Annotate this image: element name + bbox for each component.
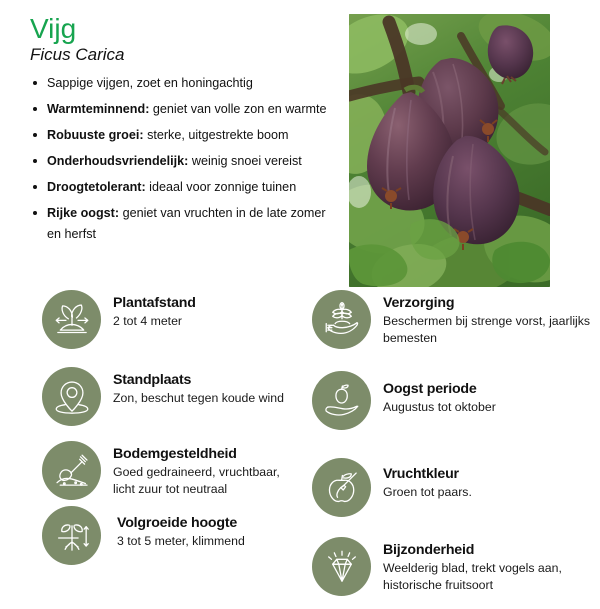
attribute-card-description: 2 tot 4 meter bbox=[113, 313, 196, 330]
plant-spacing-icon bbox=[42, 290, 101, 349]
feature-bullet-text: Sappige vijgen, zoet en honingachtig bbox=[47, 76, 253, 90]
feature-bullet-text: weinig snoei vereist bbox=[192, 154, 302, 168]
diamond-sparkle-icon bbox=[312, 537, 371, 596]
attribute-card-description: Goed gedraineerd, vruchtbaar, licht zuur… bbox=[113, 464, 300, 497]
attribute-card-description: Weelderig blad, trekt vogels aan, histor… bbox=[383, 560, 598, 593]
attribute-card-body: VerzorgingBeschermen bij strenge vorst, … bbox=[383, 290, 598, 346]
attribute-card: StandplaatsZon, beschut tegen koude wind bbox=[42, 367, 300, 426]
attribute-card-body: StandplaatsZon, beschut tegen koude wind bbox=[113, 367, 284, 407]
attribute-card-grid: Plantafstand2 tot 4 meterStandplaatsZon,… bbox=[0, 290, 600, 609]
attribute-card: BodemgesteldheidGoed gedraineerd, vrucht… bbox=[42, 441, 300, 500]
feature-bullet: Robuuste groei: sterke, uitgestrekte boo… bbox=[30, 125, 340, 146]
attribute-card-body: BijzonderheidWeelderig blad, trekt vogel… bbox=[383, 537, 598, 593]
attribute-card: Volgroeide hoogte3 tot 5 meter, klimmend bbox=[42, 506, 300, 565]
attribute-card-body: Plantafstand2 tot 4 meter bbox=[113, 290, 196, 330]
feature-bullet: Droogtetolerant: ideaal voor zonnige tui… bbox=[30, 177, 340, 198]
attribute-card-title: Plantafstand bbox=[113, 295, 196, 312]
feature-bullet-text: ideaal voor zonnige tuinen bbox=[149, 180, 296, 194]
attribute-card-title: Verzorging bbox=[383, 295, 598, 312]
latin-name: Ficus Carica bbox=[30, 45, 340, 65]
attribute-card: VerzorgingBeschermen bij strenge vorst, … bbox=[312, 290, 600, 349]
attribute-card-description: Zon, beschut tegen koude wind bbox=[113, 390, 284, 407]
attribute-card-body: Volgroeide hoogte3 tot 5 meter, klimmend bbox=[113, 506, 245, 550]
attribute-card-title: Bijzonderheid bbox=[383, 542, 598, 559]
plant-height-icon bbox=[42, 506, 101, 565]
feature-bullet-label: Rijke oogst: bbox=[47, 206, 119, 220]
feature-bullet-list: Sappige vijgen, zoet en honingachtigWarm… bbox=[30, 73, 340, 245]
feature-bullet-label: Onderhoudsvriendelijk: bbox=[47, 154, 188, 168]
attribute-card-description: Beschermen bij strenge vorst, jaarlijks … bbox=[383, 313, 598, 346]
shovel-soil-icon bbox=[42, 441, 101, 500]
attribute-card: Plantafstand2 tot 4 meter bbox=[42, 290, 300, 349]
feature-bullet: Onderhoudsvriendelijk: weinig snoei vere… bbox=[30, 151, 340, 172]
intro-text-block: Vijg Ficus Carica Sappige vijgen, zoet e… bbox=[0, 14, 340, 250]
feature-bullet: Sappige vijgen, zoet en honingachtig bbox=[30, 73, 340, 94]
feature-bullet-label: Warmteminnend: bbox=[47, 102, 149, 116]
attribute-card: VruchtkleurGroen tot paars. bbox=[312, 458, 600, 517]
attribute-column-left: Plantafstand2 tot 4 meterStandplaatsZon,… bbox=[0, 290, 300, 609]
page-title: Vijg bbox=[30, 14, 340, 44]
feature-bullet: Rijke oogst: geniet van vruchten in de l… bbox=[30, 203, 340, 245]
attribute-card: Oogst periodeAugustus tot oktober bbox=[312, 371, 600, 430]
apple-brush-color-icon bbox=[312, 458, 371, 517]
hand-plant-care-icon bbox=[312, 290, 371, 349]
attribute-card-title: Vruchtkleur bbox=[383, 466, 472, 483]
attribute-card-title: Bodemgesteldheid bbox=[113, 446, 300, 463]
feature-bullet-text: geniet van volle zon en warmte bbox=[153, 102, 327, 116]
hand-apple-harvest-icon bbox=[312, 371, 371, 430]
attribute-card-title: Volgroeide hoogte bbox=[117, 515, 245, 532]
attribute-card: BijzonderheidWeelderig blad, trekt vogel… bbox=[312, 537, 600, 596]
attribute-card-title: Standplaats bbox=[113, 372, 284, 389]
attribute-column-right: VerzorgingBeschermen bij strenge vorst, … bbox=[300, 290, 600, 609]
attribute-card-body: BodemgesteldheidGoed gedraineerd, vrucht… bbox=[113, 441, 300, 497]
plant-info-sheet: Vijg Ficus Carica Sappige vijgen, zoet e… bbox=[0, 0, 600, 600]
feature-bullet-label: Droogtetolerant: bbox=[47, 180, 146, 194]
attribute-card-title: Oogst periode bbox=[383, 381, 496, 398]
attribute-card-body: VruchtkleurGroen tot paars. bbox=[383, 458, 472, 501]
fig-photo bbox=[349, 14, 550, 287]
attribute-card-body: Oogst periodeAugustus tot oktober bbox=[383, 371, 496, 416]
intro-section: Vijg Ficus Carica Sappige vijgen, zoet e… bbox=[0, 0, 600, 287]
attribute-card-description: Groen tot paars. bbox=[383, 484, 472, 501]
location-pin-icon bbox=[42, 367, 101, 426]
attribute-card-description: 3 tot 5 meter, klimmend bbox=[117, 533, 245, 550]
feature-bullet: Warmteminnend: geniet van volle zon en w… bbox=[30, 99, 340, 120]
feature-bullet-label: Robuuste groei: bbox=[47, 128, 144, 142]
attribute-card-description: Augustus tot oktober bbox=[383, 399, 496, 416]
feature-bullet-text: sterke, uitgestrekte boom bbox=[147, 128, 288, 142]
